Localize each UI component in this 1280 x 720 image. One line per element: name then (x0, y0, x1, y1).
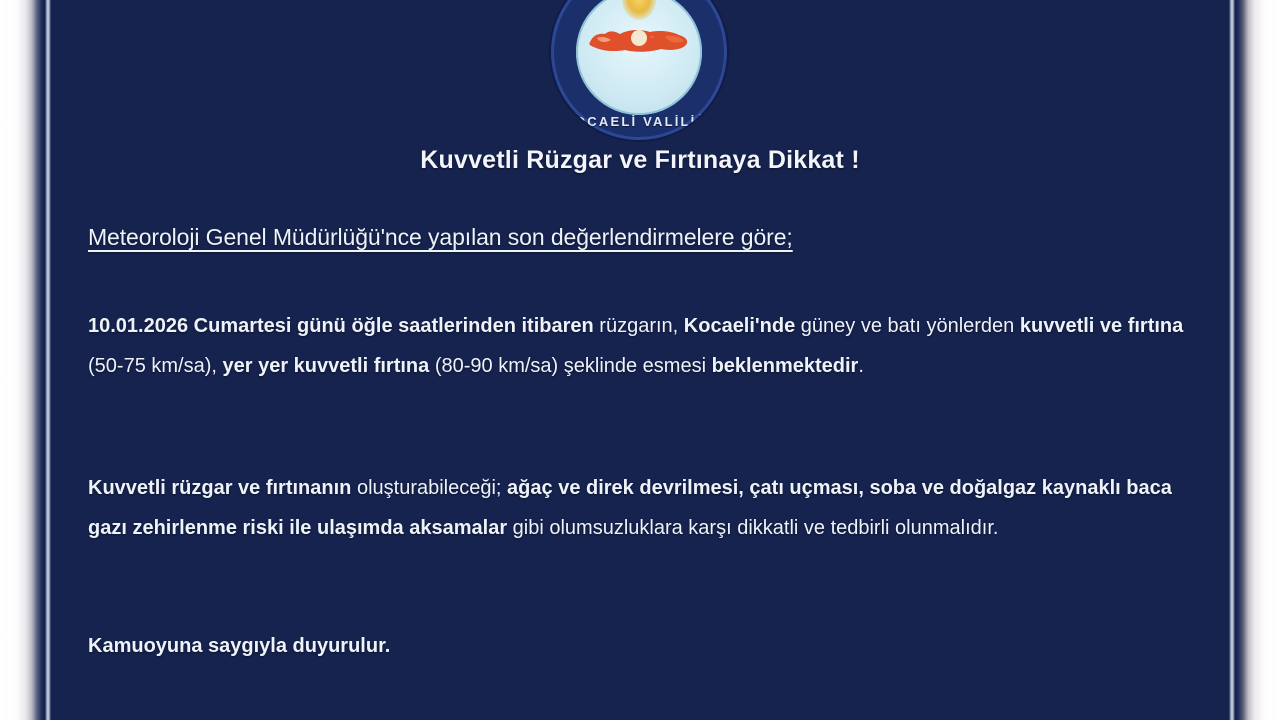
text-run-regular: (80-90 km/sa) şeklinde esmesi (429, 355, 711, 377)
text-run-regular: güney ve batı yönlerden (795, 315, 1020, 337)
announcement-content: TÜRKİYE CUMHURİYETİ KOCAELİ VALİLİĞİ Kuv… (0, 0, 1280, 720)
subtitle-source-reference: Meteoroloji Genel Müdürlüğü'nce yapılan … (88, 224, 793, 251)
text-run-regular: (50-75 km/sa), (88, 355, 222, 377)
page-title: Kuvvetli Rüzgar ve Fırtınaya Dikkat ! (0, 146, 1280, 175)
paragraph-risks-and-precautions: Kuvvetli rüzgar ve fırtınanın oluşturabi… (88, 468, 1196, 548)
text-run-bold: yer yer kuvvetli fırtına (222, 355, 429, 377)
kocaeli-governorship-seal-icon: TÜRKİYE CUMHURİYETİ KOCAELİ VALİLİĞİ (551, 0, 727, 140)
crescent-star-icon (631, 30, 647, 46)
seal-ring-bottom-text: KOCAELİ VALİLİĞİ (551, 114, 727, 129)
text-run-regular: oluşturabileceği; (351, 477, 507, 499)
text-run-regular: gibi olumsuzluklara karşı dikkatli ve te… (507, 517, 998, 539)
text-run-regular: . (858, 355, 864, 377)
text-run-bold: Kocaeli'nde (684, 315, 795, 337)
text-run-bold: kuvvetli ve fırtına (1020, 315, 1183, 337)
text-run-bold: Kuvvetli rüzgar ve fırtınanın (88, 477, 351, 499)
text-run-bold: beklenmektedir (712, 355, 859, 377)
text-run-bold: Kamuoyuna saygıyla duyurulur. (88, 635, 390, 657)
paragraph-closing-statement: Kamuoyuna saygıyla duyurulur. (88, 626, 1196, 666)
text-run-regular: rüzgarın, (594, 315, 684, 337)
text-run-bold: 10.01.2026 Cumartesi günü öğle saatlerin… (88, 315, 594, 337)
announcement-page: TÜRKİYE CUMHURİYETİ KOCAELİ VALİLİĞİ Kuv… (0, 0, 1280, 720)
paragraph-forecast: 10.01.2026 Cumartesi günü öğle saatlerin… (88, 306, 1196, 386)
